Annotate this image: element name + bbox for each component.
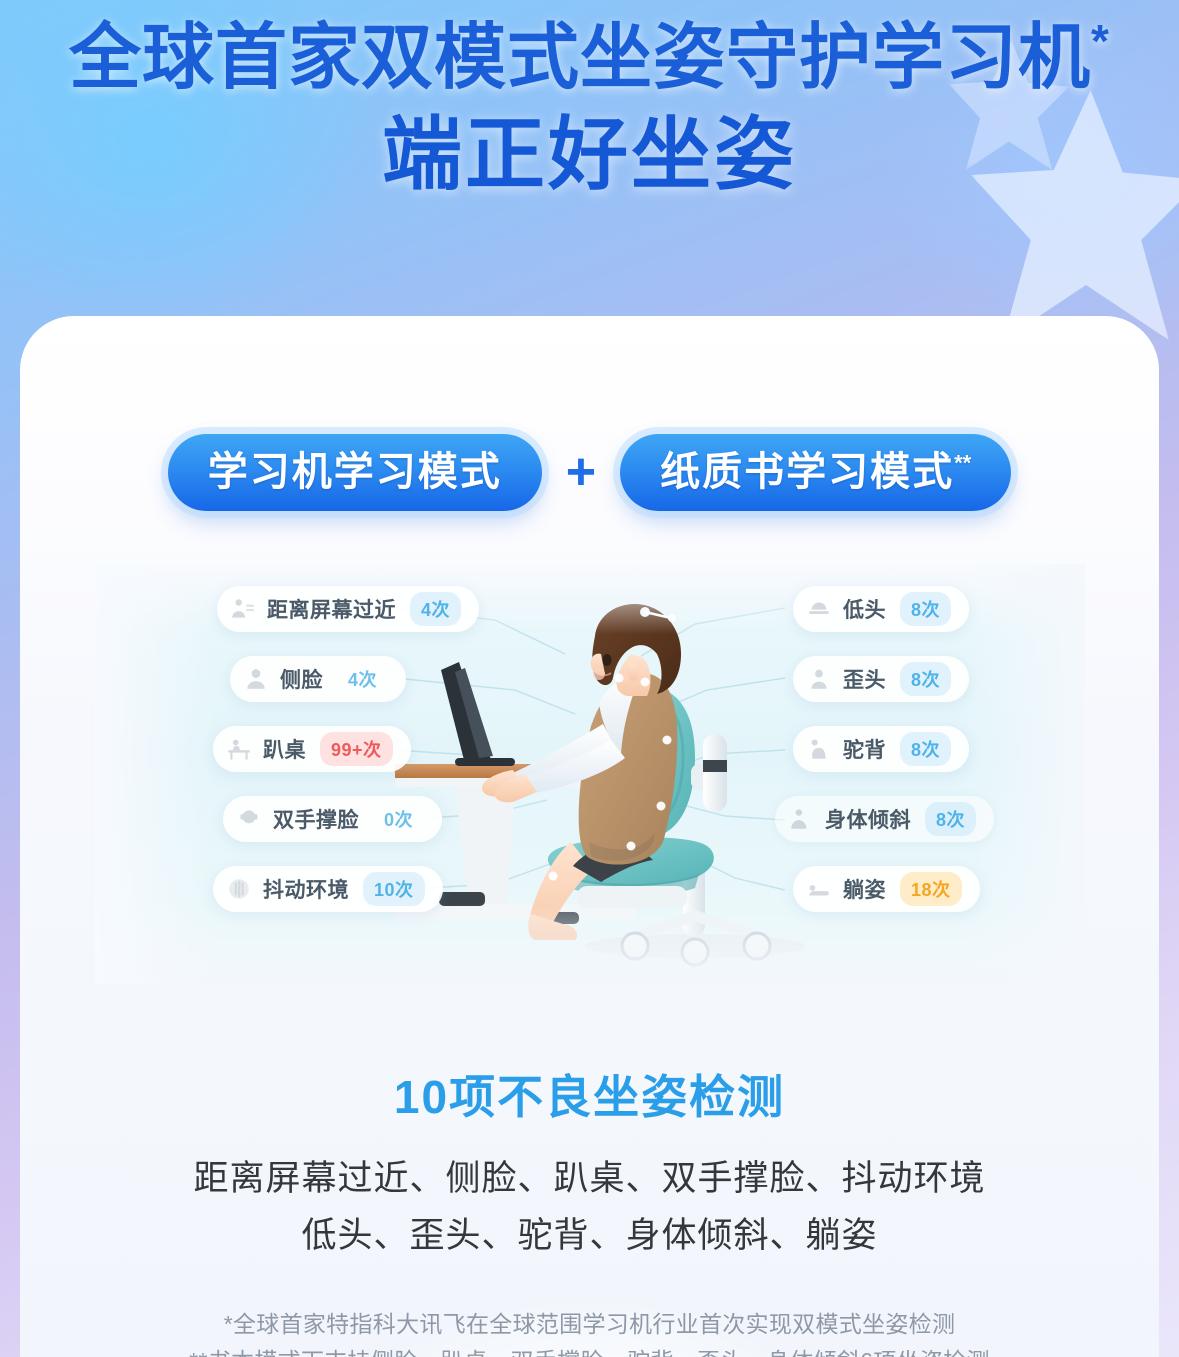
detection-name: 侧脸 bbox=[280, 664, 323, 694]
detection-name: 距离屏幕过近 bbox=[267, 594, 396, 624]
content-card: 学习机学习模式 + 纸质书学习模式** bbox=[20, 316, 1159, 1357]
footnote-2: **书本模式下支持侧脸、趴桌、双手撑脸、驼背、歪头、身体倾斜6项坐姿检测 bbox=[20, 1343, 1159, 1357]
detection-count: 8次 bbox=[900, 662, 951, 696]
detection-name: 身体倾斜 bbox=[825, 804, 911, 834]
detection-name: 低头 bbox=[843, 594, 886, 624]
hunchback-icon bbox=[805, 735, 833, 763]
mode-selector: 学习机学习模式 + 纸质书学习模式** bbox=[20, 434, 1159, 511]
shaking-environment-icon bbox=[225, 875, 253, 903]
detection-count: 8次 bbox=[900, 592, 951, 626]
detection-count: 4次 bbox=[337, 662, 388, 696]
detection-pill-side-face[interactable]: 侧脸 4次 bbox=[230, 656, 406, 702]
detection-pill-shaking-environment[interactable]: 抖动环境 10次 bbox=[213, 866, 443, 912]
detection-name: 趴桌 bbox=[263, 734, 306, 764]
page-subtitle: 端正好坐姿 bbox=[0, 111, 1179, 199]
mode-button-device-label: 学习机学习模式 bbox=[208, 450, 502, 494]
stage-fade-right bbox=[965, 564, 1085, 984]
head-down-icon bbox=[805, 595, 833, 623]
footnote-1: *全球首家特指科大讯飞在全球范围学习机行业首次实现双模式坐姿检测 bbox=[20, 1306, 1159, 1343]
posture-illustration-stage: 距离屏幕过近 4次 侧脸 4次 趴桌 99+次 bbox=[95, 564, 1085, 984]
detection-name: 双手撑脸 bbox=[273, 804, 359, 834]
stage-fade-left bbox=[95, 564, 215, 984]
lying-on-desk-icon bbox=[225, 735, 253, 763]
detection-pill-tilted-head[interactable]: 歪头 8次 bbox=[793, 656, 969, 702]
detection-count: 18次 bbox=[900, 872, 962, 906]
mode-button-paper-book[interactable]: 纸质书学习模式** bbox=[620, 434, 1011, 511]
tablet-device bbox=[441, 662, 515, 766]
hero-headings: 全球首家双模式坐姿守护学习机* 端正好坐姿 bbox=[0, 0, 1179, 199]
detection-count: 99+次 bbox=[320, 732, 393, 766]
stage-fade-bottom bbox=[95, 904, 1085, 984]
mode-button-paper-book-asterisks: ** bbox=[954, 451, 971, 476]
detection-list: 距离屏幕过近、侧脸、趴桌、双手撑脸、抖动环境 低头、歪头、驼背、身体倾斜、躺姿 bbox=[20, 1151, 1159, 1264]
page-title: 全球首家双模式坐姿守护学习机* bbox=[0, 14, 1179, 101]
detection-pill-head-down[interactable]: 低头 8次 bbox=[793, 586, 969, 632]
detection-count: 8次 bbox=[900, 732, 951, 766]
detection-pill-lying-posture[interactable]: 躺姿 18次 bbox=[793, 866, 980, 912]
mode-button-device[interactable]: 学习机学习模式 bbox=[168, 434, 542, 511]
mode-plus-separator: + bbox=[564, 446, 598, 498]
detection-list-line-2: 低头、歪头、驼背、身体倾斜、躺姿 bbox=[20, 1208, 1159, 1265]
detection-count: 8次 bbox=[925, 802, 976, 836]
person-close-to-screen-icon bbox=[229, 595, 257, 623]
detection-pill-body-tilt[interactable]: 身体倾斜 8次 bbox=[775, 796, 994, 842]
detection-count: 4次 bbox=[410, 592, 461, 626]
headline-asterisk: * bbox=[1091, 15, 1110, 67]
detection-name: 歪头 bbox=[843, 664, 886, 694]
lying-posture-icon bbox=[805, 875, 833, 903]
detection-pill-hands-on-face[interactable]: 双手撑脸 0次 bbox=[223, 796, 442, 842]
body-tilt-icon bbox=[787, 805, 815, 833]
mode-button-paper-book-label: 纸质书学习模式 bbox=[660, 450, 954, 494]
detection-pill-lying-on-desk[interactable]: 趴桌 99+次 bbox=[213, 726, 411, 772]
side-face-icon bbox=[242, 665, 270, 693]
tilted-head-icon bbox=[805, 665, 833, 693]
detection-pill-hunchback[interactable]: 驼背 8次 bbox=[793, 726, 969, 772]
detection-name: 驼背 bbox=[843, 734, 886, 764]
detection-count: 10次 bbox=[363, 872, 425, 906]
promo-page: 全球首家双模式坐姿守护学习机* 端正好坐姿 学习机学习模式 + 纸质书学习模式*… bbox=[0, 0, 1179, 1357]
footnotes: *全球首家特指科大讯飞在全球范围学习机行业首次实现双模式坐姿检测 **书本模式下… bbox=[20, 1306, 1159, 1357]
detection-list-line-1: 距离屏幕过近、侧脸、趴桌、双手撑脸、抖动环境 bbox=[20, 1151, 1159, 1208]
summary-title: 10项不良坐姿检测 bbox=[20, 1061, 1159, 1127]
detection-count: 0次 bbox=[373, 802, 424, 836]
hands-on-face-icon bbox=[235, 805, 263, 833]
detection-name: 躺姿 bbox=[843, 874, 886, 904]
headline-primary-text: 全球首家双模式坐姿守护学习机 bbox=[69, 18, 1091, 98]
detection-pill-distance-too-close[interactable]: 距离屏幕过近 4次 bbox=[217, 586, 479, 632]
detection-name: 抖动环境 bbox=[263, 874, 349, 904]
